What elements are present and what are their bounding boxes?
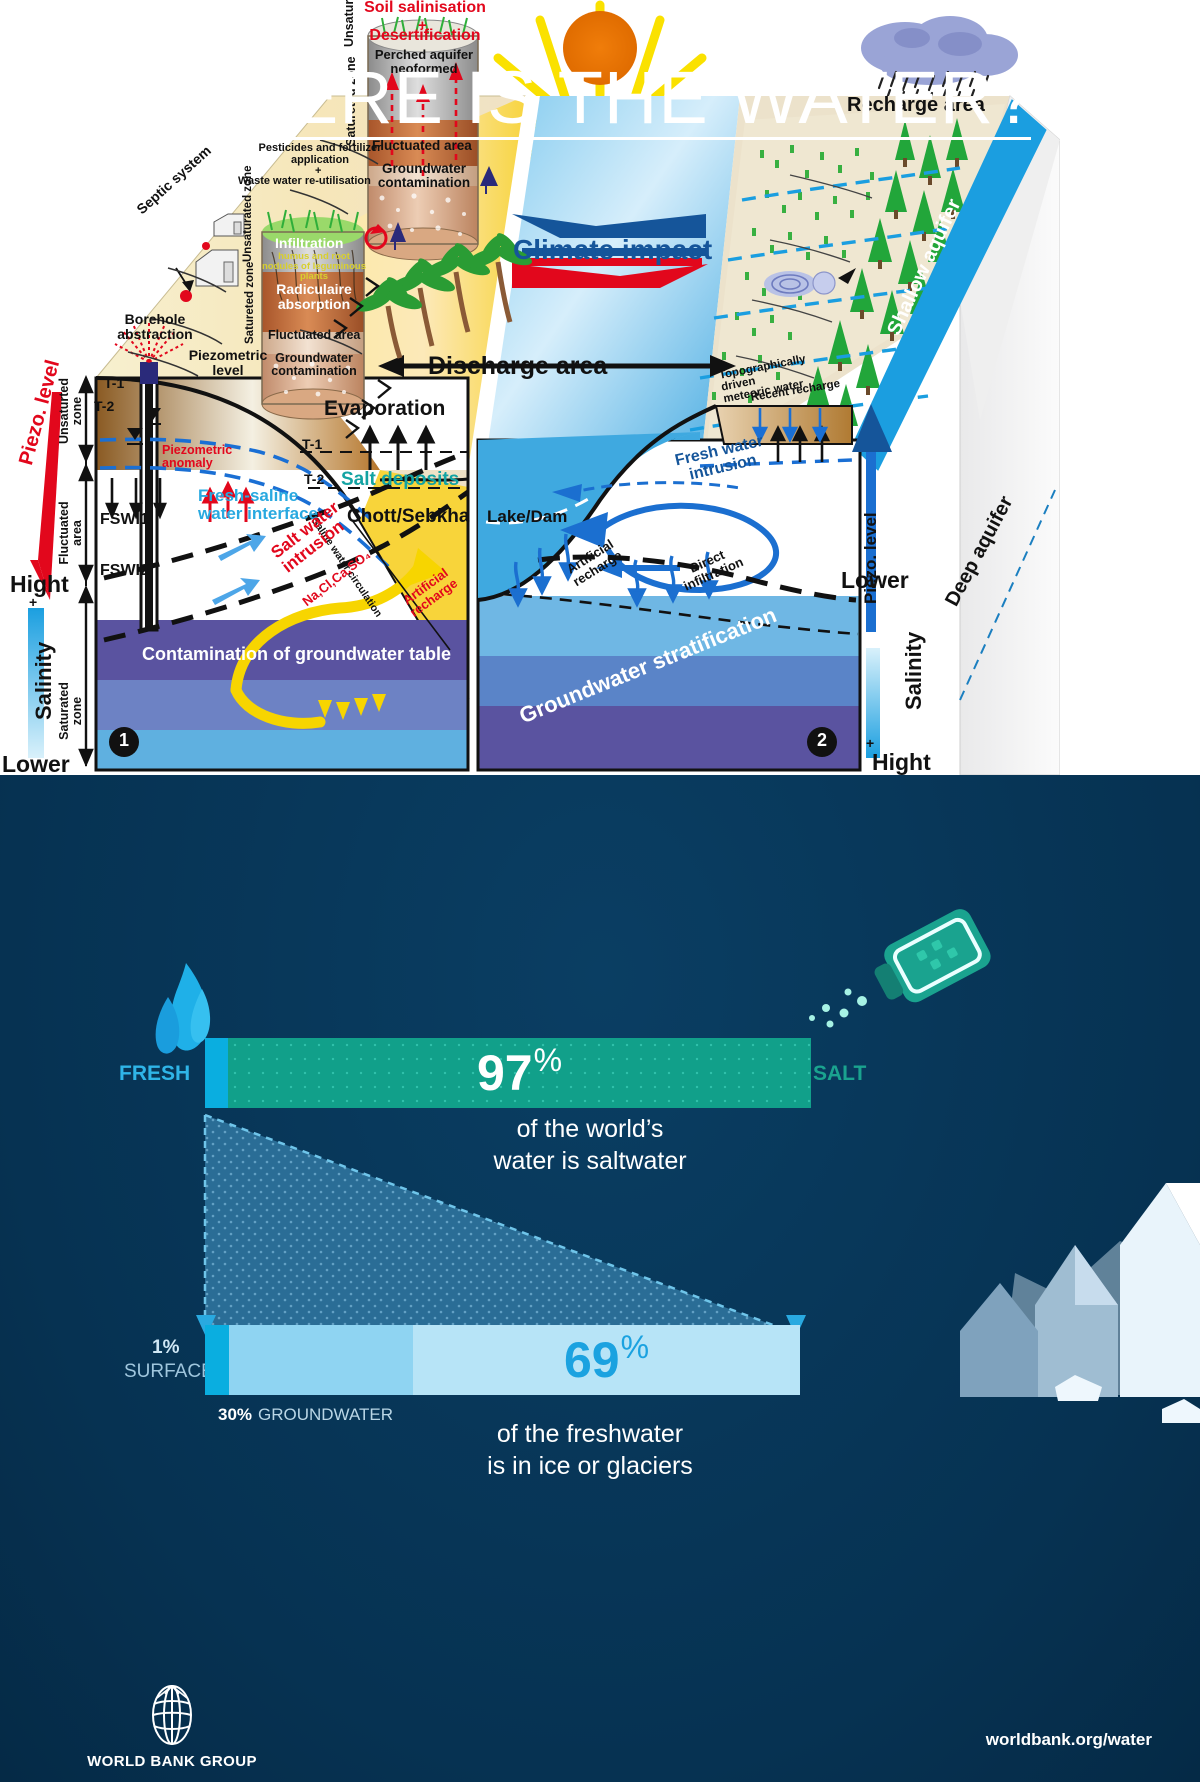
bottom-artwork [0, 775, 1200, 1782]
label-soil-salinisation: Soil salinisation [300, 0, 550, 17]
title-underline [165, 137, 1031, 140]
label-piezometric-level: Piezometriclevel [176, 348, 280, 377]
world-bank-logo[interactable]: WORLD BANK GROUP [72, 1684, 272, 1770]
label-radiculaire: Radiculaireabsorption [266, 282, 362, 311]
label-piezometric-anomaly: Piezometricanomaly [162, 444, 268, 470]
surface-percent: 1% [152, 1337, 179, 1359]
groundwater-segment [228, 1325, 413, 1395]
website-url[interactable]: worldbank.org/water [986, 1730, 1152, 1750]
label-infiltration: Infiltration [275, 236, 343, 251]
salt-grains-icon [809, 989, 867, 1028]
surface-word: SURFACE [124, 1361, 214, 1383]
label-evaporation: Evaporation [324, 398, 445, 420]
label-borehole-abstraction: Boreholeabstraction [100, 312, 210, 341]
label-unsaturated-zone-top: Unsaturated zone [343, 0, 356, 47]
page-title: WHERE IS THE WATER? [0, 55, 1200, 140]
salt-label: SALT [813, 1062, 866, 1086]
groundwater-percent: 30% [218, 1405, 252, 1425]
fresh-sliver-salt-row [205, 1038, 229, 1108]
label-humus: humus and rootnodules of leguminousplant… [262, 252, 366, 282]
salt-shaker-icon [866, 905, 995, 1014]
label-salinity-left: Salinity [32, 642, 55, 720]
label-fluctuated-axis: Fluctuatedarea [58, 496, 84, 570]
label-waste-water: Waste water re-utilisation [238, 176, 371, 188]
label-fswi1: FSWI1 [100, 512, 149, 529]
fresh-number: 69 [564, 1335, 620, 1385]
infographic-poster: Soil salinisation + Desertification Perc… [0, 0, 1200, 1782]
salt-percent-value: 97% [228, 1038, 811, 1108]
label-t2-mid: T-2 [304, 472, 324, 487]
label-lower-left: Lower [2, 752, 70, 775]
label-hight-left: Hight [10, 572, 69, 596]
label-hight-right: Hight [872, 750, 931, 774]
label-salt-deposits: Salt deposits [341, 470, 459, 490]
world-bank-text: WORLD BANK GROUP [72, 1753, 272, 1770]
groundwater-word: GROUNDWATER [258, 1405, 393, 1425]
globe-icon [141, 1684, 203, 1746]
salt-percent-sign: % [534, 1044, 562, 1076]
label-discharge-area: Discharge area [428, 353, 607, 379]
salt-caption: of the world’swater is saltwater [380, 1113, 800, 1177]
label-contamination-table: Contamination of groundwater table [142, 645, 451, 664]
surface-sliver [205, 1325, 229, 1395]
label-fluctuated-area-irrigation: Fluctuated area [268, 329, 360, 342]
label-unsaturated-axis: Unsaturtedzone [58, 374, 84, 448]
label-saturated-zone-irrigation: Satureted zone [244, 262, 256, 344]
label-fswi2: FSWI2 [100, 563, 149, 580]
label-unsaturated-zone-irrigation: Unsaturated zone [242, 166, 254, 263]
label-plus-left: + [29, 595, 37, 610]
fresh-percent-sign: % [621, 1331, 649, 1363]
fresh-label: FRESH [119, 1062, 190, 1086]
panel-number-2: 2 [817, 731, 827, 750]
label-lake-dam: Lake/Dam [487, 508, 567, 526]
label-salinity-right: Salinity [902, 632, 925, 710]
fresh-percent-value: 69% [413, 1325, 800, 1395]
fresh-caption: of the freshwateris in ice or glaciers [390, 1418, 790, 1482]
label-t1-left: T-1 [104, 376, 124, 391]
label-chott-sebkha: Chott/Sebkha [347, 507, 469, 527]
label-groundwater-contamination-top: Groundwatercontamination [366, 162, 482, 190]
label-climate-impact: Climate impact [513, 235, 712, 264]
label-lower-right: Lower [841, 568, 909, 592]
label-t1-mid: T-1 [302, 437, 322, 452]
label-t2-left: T-2 [94, 399, 114, 414]
iceberg-icon [960, 1183, 1200, 1435]
label-saturated-axis: Saturatedzone [58, 674, 84, 748]
label-pesticides: Pesticides and fertilizerapplication [240, 143, 400, 166]
panel-number-1: 1 [119, 731, 129, 750]
salt-number: 97 [477, 1048, 533, 1098]
water-drop-icon [156, 963, 210, 1054]
